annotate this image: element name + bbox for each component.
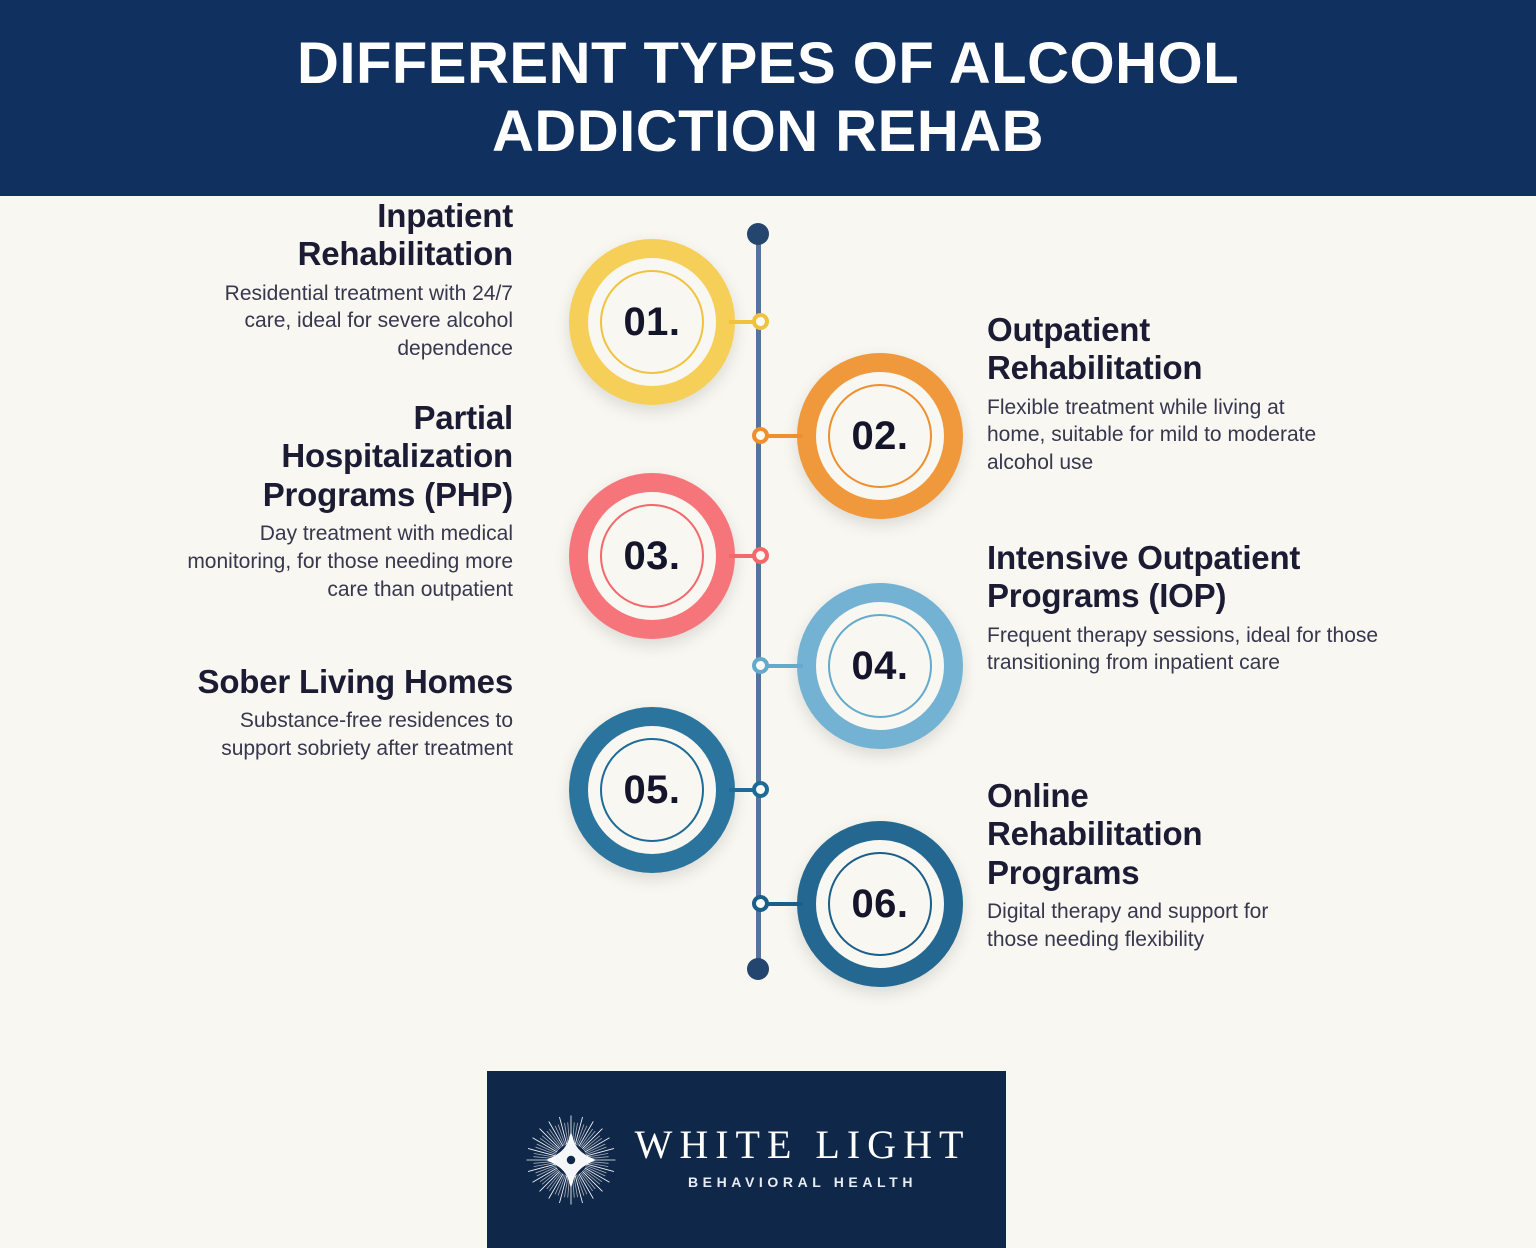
step-number-label: 03. [623, 536, 680, 576]
step-number-label: 05. [623, 770, 680, 810]
step-number-badge[interactable]: 05. [569, 707, 735, 873]
step-number-label: 02. [851, 416, 908, 456]
step-badge-ring: 06. [828, 852, 932, 956]
step-connector-dot [752, 427, 769, 444]
brand-wordmark: WHITE LIGHT BEHAVIORAL HEALTH [635, 1125, 971, 1194]
step-badge-ring: 01. [600, 270, 704, 374]
page-title: DIFFERENT TYPES OF ALCOHOL ADDICTION REH… [277, 30, 1259, 166]
step-badge-inner: 01. [593, 263, 711, 381]
step-title: Outpatient Rehabilitation [987, 311, 1327, 388]
step-text-block: Partial Hospitalization Programs (PHP)Da… [173, 399, 513, 604]
step-connector-dot [752, 313, 769, 330]
step-badge-ring: 04. [828, 614, 932, 718]
step-description: Day treatment with medical monitoring, f… [173, 520, 513, 604]
step-title: Inpatient Rehabilitation [173, 197, 513, 274]
step-title: Partial Hospitalization Programs (PHP) [173, 399, 513, 514]
step-description: Residential treatment with 24/7 care, id… [173, 280, 513, 364]
step-number-badge[interactable]: 03. [569, 473, 735, 639]
step-badge-inner: 05. [593, 731, 711, 849]
step-text-block: Outpatient RehabilitationFlexible treatm… [987, 311, 1327, 477]
step-number-badge[interactable]: 02. [797, 353, 963, 519]
brand-footer: WHITE LIGHT BEHAVIORAL HEALTH [487, 1071, 1006, 1248]
step-description: Flexible treatment while living at home,… [987, 394, 1327, 478]
step-text-block: Intensive Outpatient Programs (IOP)Frequ… [987, 539, 1417, 677]
brand-tagline: BEHAVIORAL HEALTH [688, 1174, 917, 1190]
step-badge-ring: 03. [600, 504, 704, 608]
step-connector-dot [752, 781, 769, 798]
step-badge-inner: 06. [821, 845, 939, 963]
step-title: Online Rehabilitation Programs [987, 777, 1287, 892]
step-number-badge[interactable]: 06. [797, 821, 963, 987]
step-number-label: 04. [851, 646, 908, 686]
step-description: Digital therapy and support for those ne… [987, 898, 1287, 954]
step-number-label: 01. [623, 302, 680, 342]
step-description: Frequent therapy sessions, ideal for tho… [987, 622, 1417, 678]
starburst-light-icon [523, 1112, 619, 1208]
step-description: Substance-free residences to support sob… [173, 707, 513, 763]
step-connector-dot [752, 895, 769, 912]
step-title: Intensive Outpatient Programs (IOP) [987, 539, 1417, 616]
step-text-block: Inpatient RehabilitationResidential trea… [173, 197, 513, 363]
step-text-block: Sober Living HomesSubstance-free residen… [173, 663, 513, 763]
step-connector-dot [752, 657, 769, 674]
steps-timeline: 01.Inpatient RehabilitationResidential t… [0, 196, 1536, 1076]
brand-name: WHITE LIGHT [635, 1125, 971, 1165]
step-title: Sober Living Homes [173, 663, 513, 701]
step-number-badge[interactable]: 04. [797, 583, 963, 749]
step-number-label: 06. [851, 884, 908, 924]
step-badge-inner: 04. [821, 607, 939, 725]
step-badge-ring: 05. [600, 738, 704, 842]
step-badge-inner: 03. [593, 497, 711, 615]
step-badge-ring: 02. [828, 384, 932, 488]
step-number-badge[interactable]: 01. [569, 239, 735, 405]
step-connector-dot [752, 547, 769, 564]
header-banner: DIFFERENT TYPES OF ALCOHOL ADDICTION REH… [0, 0, 1536, 196]
step-text-block: Online Rehabilitation ProgramsDigital th… [987, 777, 1287, 954]
step-badge-inner: 02. [821, 377, 939, 495]
